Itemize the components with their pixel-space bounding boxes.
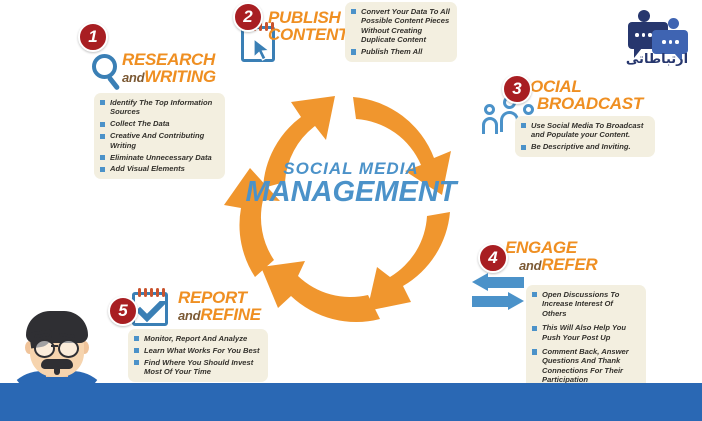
step-1-title-line2: WRITING [144, 67, 216, 86]
list-item: Eliminate Unnecessary Data [99, 153, 218, 162]
step-2-title-line2: CONTENT [268, 25, 348, 44]
step-5-title-and: and [178, 308, 200, 323]
step-5-heading: REPORT andREFINE [178, 290, 308, 323]
step-5-bullet-panel: Monitor, Report And Analyze Learn What W… [128, 329, 268, 382]
check-mark-icon [138, 301, 166, 323]
step-3-bullet-panel: Use Social Media To Broadcast and Popula… [515, 116, 655, 157]
step-5-title-line2: REFINE [200, 305, 261, 324]
step-4-title-and: and [519, 258, 541, 273]
logo-text: ارتباطاتی [618, 52, 696, 67]
step-3-badge: 3 [502, 74, 532, 104]
infographic-canvas: SOCIAL MEDIA MANAGEMENT 1 RESEARCH andWR… [0, 0, 702, 421]
list-item: Open Discussions To Increase Interest Of… [531, 290, 639, 318]
step-3-social-broadcast: 3 SOCIAL BROADCAST Use Social Media To B… [482, 74, 697, 174]
magnifying-glass-icon [92, 54, 126, 90]
step-2-badge: 2 [233, 2, 263, 32]
logo-head-back-icon [638, 10, 650, 22]
step-4-bullet-panel: Open Discussions To Increase Interest Of… [526, 285, 646, 390]
step-1-badge: 1 [78, 22, 108, 52]
step-5-badge: 5 [108, 296, 138, 326]
step-4-heading: ENGAGE andREFER [505, 240, 625, 273]
logo-dots-back [635, 33, 652, 37]
list-item: This Will Also Help You Push Your Post U… [531, 323, 639, 342]
list-item: Monitor, Report And Analyze [133, 334, 261, 343]
list-item: Learn What Works For You Best [133, 346, 261, 355]
logo-head-front-icon [668, 18, 679, 29]
step-1-title-and: and [122, 70, 144, 85]
logo-dots-front [662, 40, 679, 44]
step-3-title-line2: BROADCAST [537, 96, 643, 112]
two-way-arrows-icon [472, 276, 534, 312]
brand-logo: ارتباطاتی [618, 8, 696, 68]
list-item: Find Where You Should Invest Most Of You… [133, 358, 261, 377]
list-item: Identify The Top Information Sources [99, 98, 218, 117]
list-item: Convert Your Data To All Possible Conten… [350, 7, 450, 45]
step-4-title-line2: REFER [541, 255, 597, 274]
step-5-report-and-refine: 5 REPORT andREFINE Monitor, Report And A… [108, 282, 348, 372]
step-3-heading: SOCIAL BROADCAST [519, 79, 649, 112]
list-item: Collect The Data [99, 119, 218, 128]
step-2-publish-content: 2 PUBLISH CONTENT Convert Your Data To A… [233, 2, 458, 82]
list-item: Add Visual Elements [99, 164, 218, 173]
list-item: Be Descriptive and Inviting. [520, 142, 648, 151]
step-4-badge: 4 [478, 243, 508, 273]
list-item: Comment Back, Answer Questions And Thank… [531, 347, 639, 385]
center-title-line2: MANAGEMENT [245, 178, 457, 207]
bottom-bar [0, 383, 702, 421]
list-item: Creative And Contributing Writing [99, 131, 218, 150]
list-item: Publish Them All [350, 47, 450, 56]
step-4-engage-and-refer: 4 ENGAGE andREFER Open Discussions To In… [478, 240, 698, 375]
step-2-bullet-panel: Convert Your Data To All Possible Conten… [345, 2, 457, 62]
step-1-bullet-panel: Identify The Top Information Sources Col… [94, 93, 225, 179]
list-item: Use Social Media To Broadcast and Popula… [520, 121, 648, 140]
